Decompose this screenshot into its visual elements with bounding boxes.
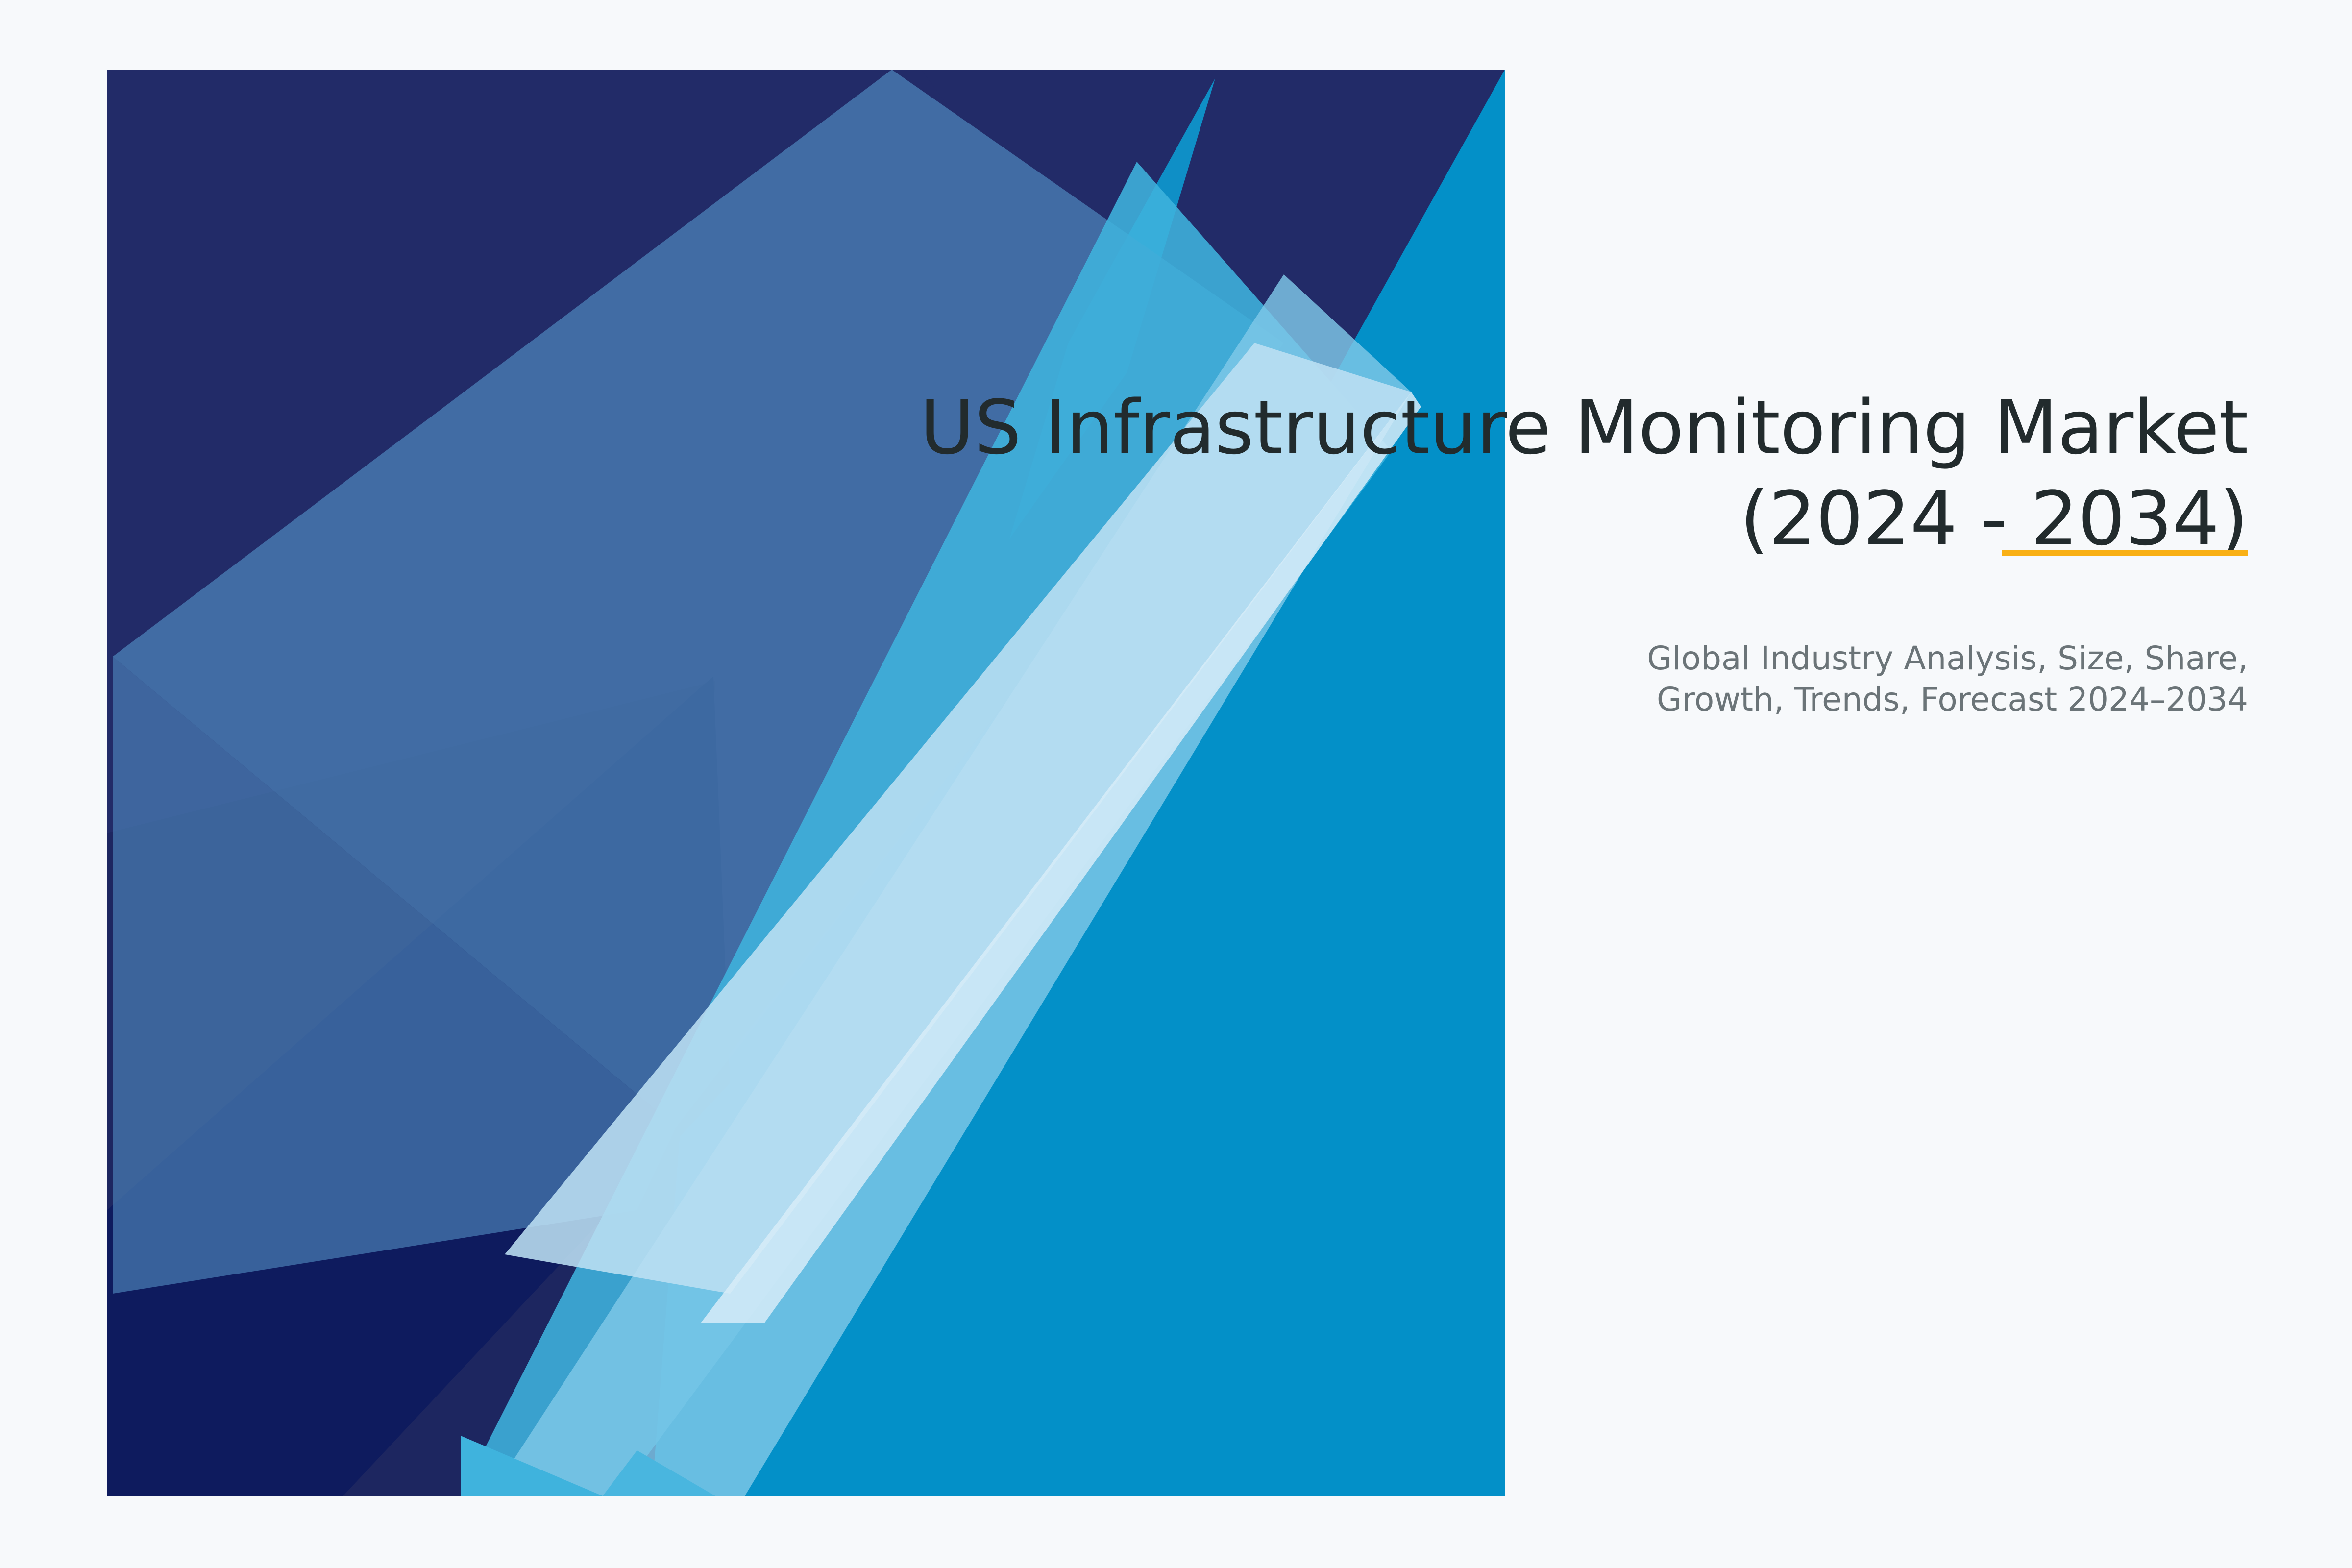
report-cover-page: US Infrastructure Monitoring Market (202… <box>0 0 2352 1568</box>
title-line-1: US Infrastructure Monitoring Market <box>896 382 2248 473</box>
cover-text-block: US Infrastructure Monitoring Market (202… <box>896 382 2248 720</box>
page-subtitle: Global Industry Analysis, Size, Share, G… <box>896 638 2248 720</box>
subtitle-line-1: Global Industry Analysis, Size, Share, <box>896 638 2248 679</box>
page-title: US Infrastructure Monitoring Market (202… <box>896 382 2248 564</box>
title-underline-accent <box>2002 550 2248 556</box>
abstract-geometric-artwork <box>0 0 2352 1568</box>
subtitle-line-2: Growth, Trends, Forecast 2024–2034 <box>896 679 2248 720</box>
